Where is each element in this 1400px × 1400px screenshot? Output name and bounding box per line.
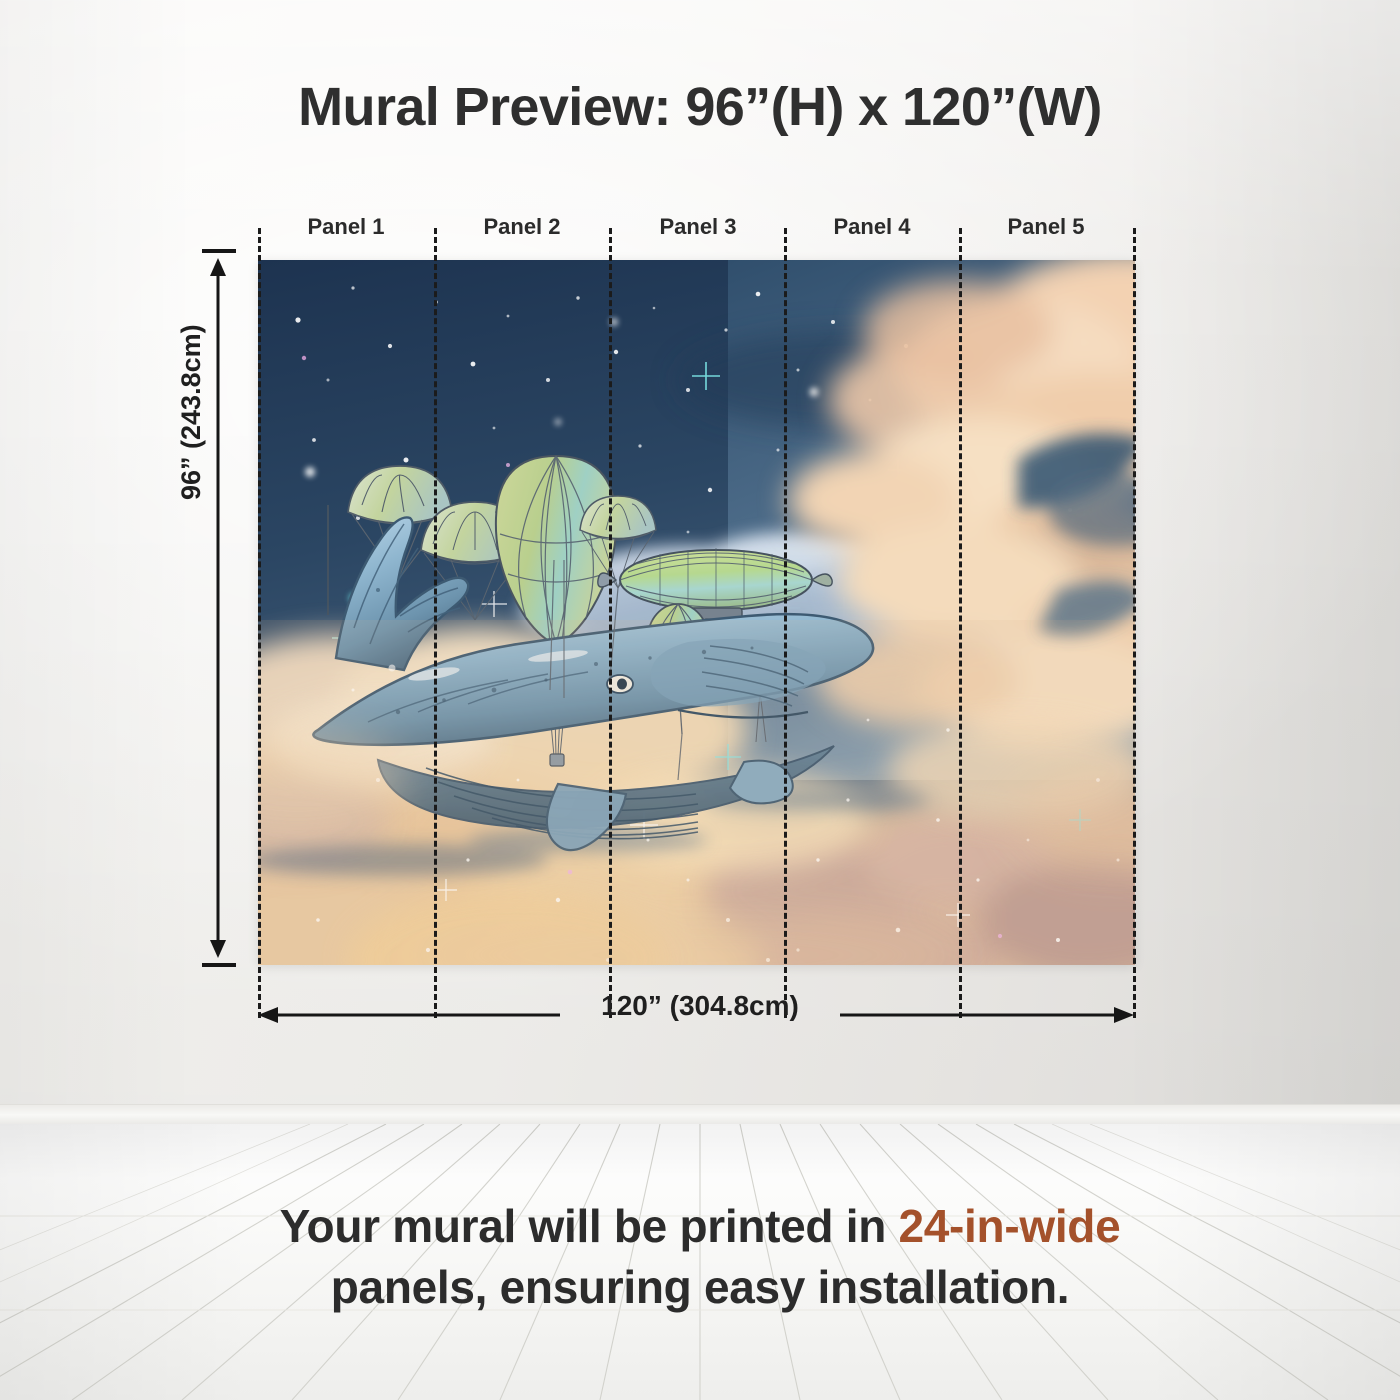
height-dimension-label: 96” (243.8cm)	[176, 324, 207, 500]
caption-accent-panel-width: 24-in-wide	[898, 1200, 1120, 1252]
caption-line-1: Your mural will be printed in 24-in-wide	[0, 1196, 1400, 1257]
mural-edge-left	[258, 228, 261, 1018]
panel-label-2: Panel 2	[434, 214, 610, 240]
panel-divider-2	[609, 228, 612, 1018]
mural-artwork[interactable]	[258, 260, 1135, 965]
width-dimension-label: 120” (304.8cm)	[0, 990, 1400, 1022]
panel-divider-3	[784, 228, 787, 1018]
panel-divider-4	[959, 228, 962, 1018]
footer-caption: Your mural will be printed in 24-in-wide…	[0, 1196, 1400, 1317]
panel-label-1: Panel 1	[258, 214, 434, 240]
panel-divider-1	[434, 228, 437, 1018]
mural-edge-right	[1133, 228, 1136, 1018]
panel-label-5: Panel 5	[958, 214, 1134, 240]
caption-line-1-text: Your mural will be printed in	[280, 1200, 899, 1252]
mural-preview-screenshot: Mural Preview: 96”(H) x 120”(W) Panel 1 …	[0, 0, 1400, 1400]
page-title: Mural Preview: 96”(H) x 120”(W)	[0, 76, 1400, 138]
panel-label-4: Panel 4	[784, 214, 960, 240]
panel-label-3: Panel 3	[610, 214, 786, 240]
caption-line-2: panels, ensuring easy installation.	[0, 1257, 1400, 1318]
